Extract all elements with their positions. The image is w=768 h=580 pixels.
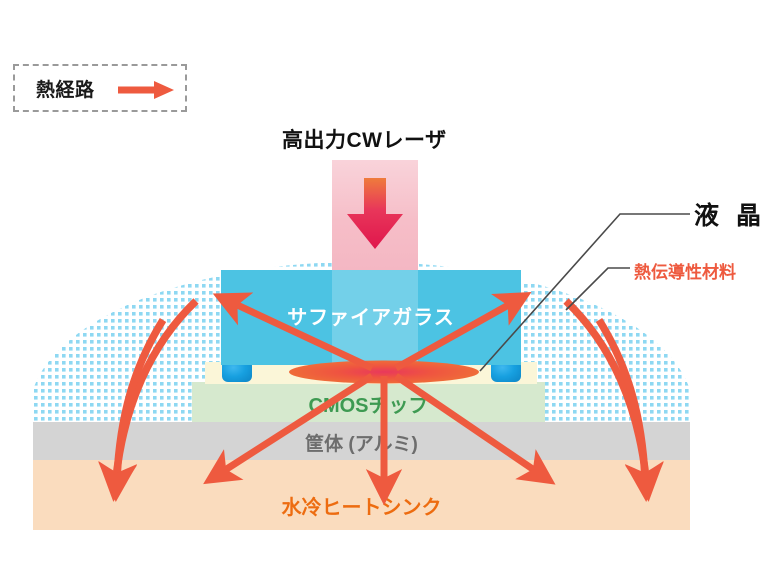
callout-label-liquid-crystal: 液 晶 bbox=[694, 196, 766, 232]
diagram-canvas: サファイアガラス CMOSチップ 筐体 (アルミ) 水冷ヒートシンク bbox=[0, 0, 768, 580]
right-arrow-icon bbox=[118, 80, 174, 100]
legend-label: 熱経路 bbox=[36, 75, 95, 102]
callout-label-thermal-interface-material: 熱伝導性材料 bbox=[634, 258, 736, 283]
